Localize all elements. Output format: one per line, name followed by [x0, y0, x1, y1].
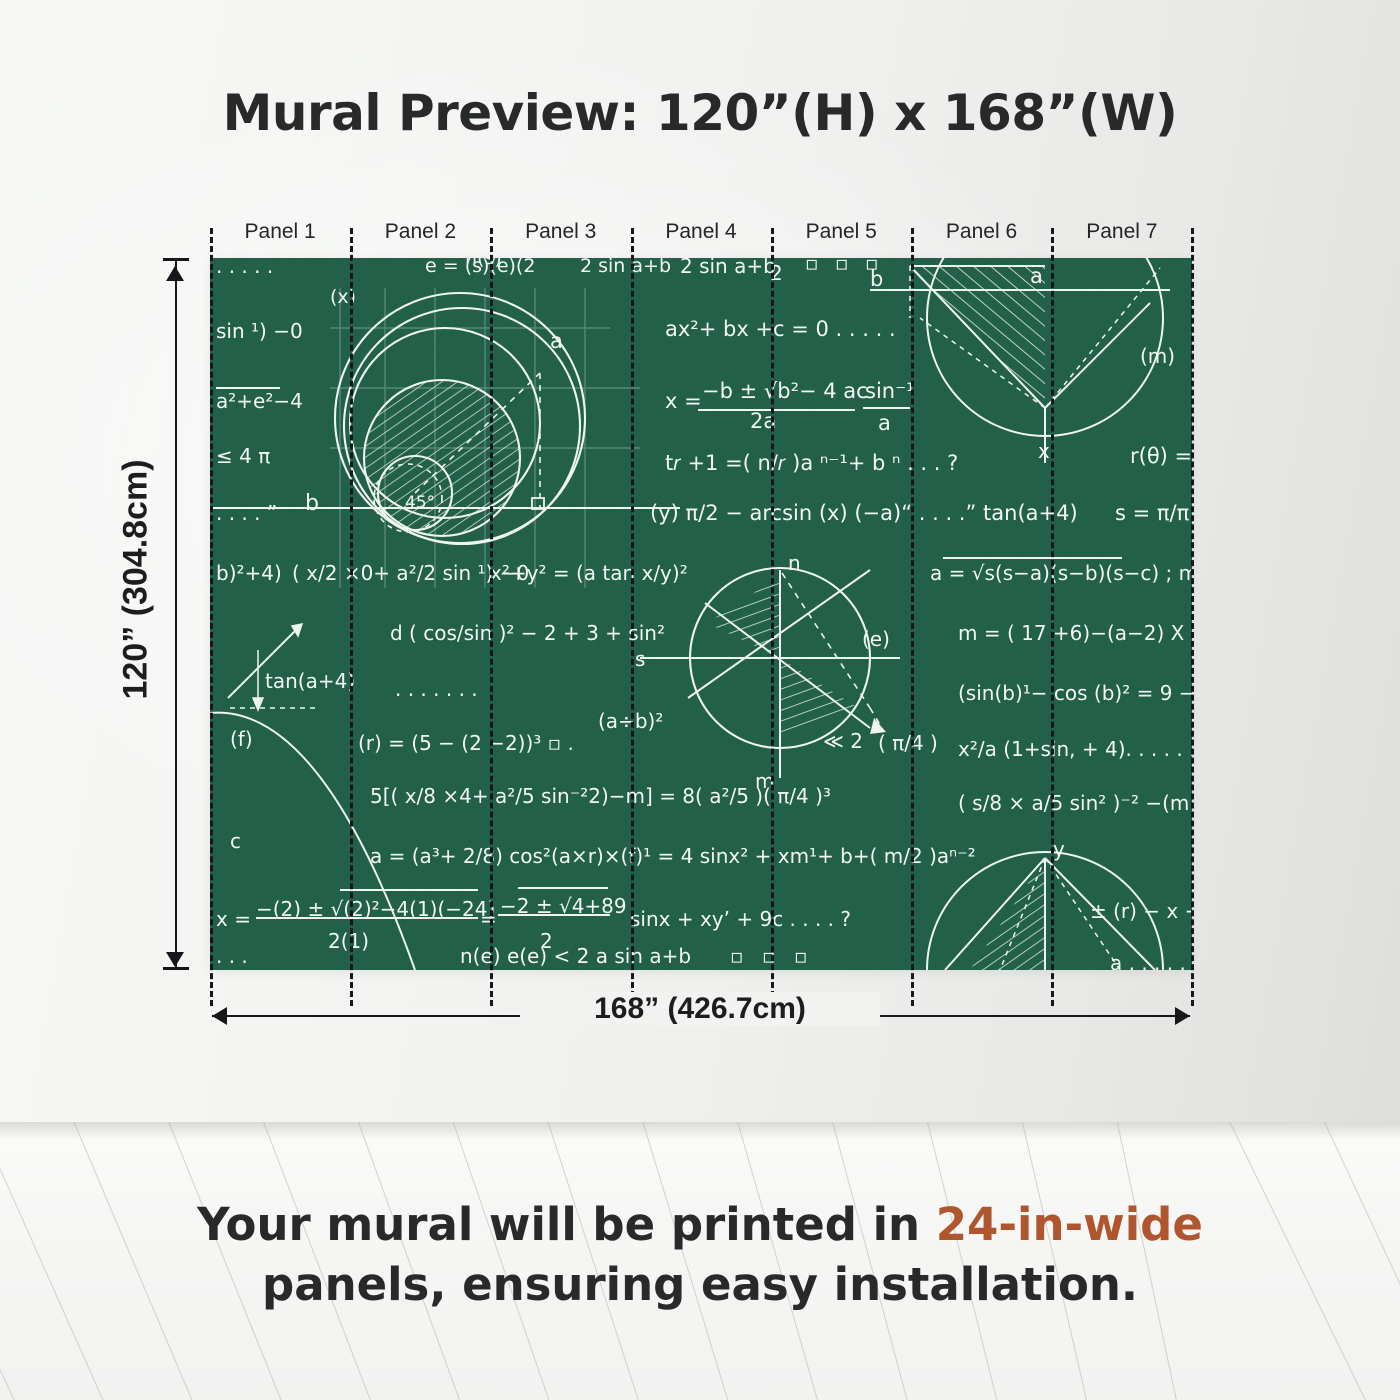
- panel-label-3: Panel 3: [491, 215, 631, 249]
- panel-divider-2: [490, 228, 493, 1006]
- caption-accent-panel-width: 24-in-wide: [936, 1198, 1203, 1251]
- svg-text:t𝑟 +1 =( n/𝑟 )a ⁿ⁻¹+ b ⁿ . .: t𝑟 +1 =( n/𝑟 )a ⁿ⁻¹+ b ⁿ . . . ?: [665, 451, 958, 475]
- page-title: Mural Preview: 120”(H) x 168”(W): [0, 84, 1400, 142]
- panel-label-5: Panel 5: [771, 215, 911, 249]
- svg-text:sin⁻¹: sin⁻¹: [865, 379, 915, 403]
- panel-divider-4: [771, 228, 774, 1006]
- svg-text:▫: ▫: [794, 944, 808, 968]
- svg-text:b)²+4): b)²+4): [216, 561, 282, 585]
- caption-block: Your mural will be printed in 24-in-wide…: [0, 1195, 1400, 1315]
- svg-text:x =: x =: [665, 389, 702, 413]
- floor-wall-shadow: [0, 1122, 1400, 1140]
- svg-text:2(1): 2(1): [328, 929, 369, 953]
- svg-text:▫: ▫: [805, 258, 819, 275]
- svg-text:x²/a (1+sin, + 4). . . . . .: x²/a (1+sin, + 4). . . . . .: [958, 737, 1192, 761]
- caption-line-2: panels, ensuring easy installation.: [0, 1255, 1400, 1315]
- svg-text:(r) = (5 − (2 −2))³ ▫ .: (r) = (5 − (2 −2))³ ▫ .: [358, 731, 574, 755]
- svg-text:tan(a+4): tan(a+4): [265, 669, 355, 693]
- caption-line-1: Your mural will be printed in 24-in-wide: [0, 1195, 1400, 1255]
- svg-text:▫: ▫: [730, 944, 744, 968]
- height-dim-arrow-down: [166, 952, 184, 967]
- svg-text:. . . . . . .: . . . . . . .: [395, 677, 478, 701]
- height-dim-cap-top: [163, 258, 189, 261]
- svg-text:(e): (e): [862, 627, 890, 651]
- height-dim-arrow-up: [166, 266, 184, 281]
- svg-text:≪ 2: ≪ 2: [823, 729, 863, 753]
- mural-preview-chalkboard: 45° a (x) b . . . . . sin ¹) −0 a²+e²−4 …: [210, 258, 1192, 970]
- panel-divider-0: [210, 228, 213, 1006]
- svg-text:a: a: [550, 329, 563, 353]
- panel-divider-7: [1191, 228, 1194, 1006]
- svg-text:s = π/π: s = π/π: [1115, 501, 1190, 525]
- svg-text:n(e) e(e) < 2 a sin a+b: n(e) e(e) < 2 a sin a+b: [460, 944, 691, 968]
- svg-text:. . .: . . .: [216, 944, 248, 968]
- panel-divider-5: [911, 228, 914, 1006]
- svg-text:r(θ) = (: r(θ) = (: [1130, 444, 1192, 468]
- panel-label-4: Panel 4: [631, 215, 771, 249]
- svg-text:n: n: [788, 551, 801, 575]
- caption-line-1-prefix: Your mural will be printed in: [197, 1198, 936, 1251]
- height-dim-cap-bottom: [163, 967, 189, 970]
- width-dimension-label: 168” (426.7cm): [520, 992, 880, 1026]
- svg-text:45°: 45°: [405, 493, 435, 513]
- svg-text:. . . . .: . . . . .: [216, 258, 273, 278]
- svg-text:=: =: [480, 907, 497, 931]
- height-dimension-line: [175, 258, 177, 970]
- svg-text:x: x: [1038, 439, 1050, 463]
- svg-text:s: s: [635, 647, 645, 671]
- svg-text:a²+e²−4: a²+e²−4: [216, 389, 303, 413]
- svg-text:sinx + xy’ + 9c . . . . ?: sinx + xy’ + 9c . . . . ?: [630, 907, 851, 931]
- svg-text:a . . . . .: a . . . . .: [1110, 951, 1186, 970]
- svg-text:( π/4 ): ( π/4 ): [878, 731, 938, 755]
- svg-text:▫: ▫: [865, 258, 879, 275]
- svg-text:(f): (f): [230, 727, 253, 751]
- chalkboard-math-artwork: 45° a (x) b . . . . . sin ¹) −0 a²+e²−4 …: [210, 258, 1192, 970]
- svg-text:a: a: [878, 411, 891, 435]
- panel-divider-3: [631, 228, 634, 1006]
- width-dim-arrow-left: [212, 1007, 227, 1025]
- svg-text:a = (a³+ 2/8) cos²(a×r)×(f)¹ =: a = (a³+ 2/8) cos²(a×r)×(f)¹ = 4 sinx² +…: [370, 844, 976, 868]
- panel-label-row: Panel 1 Panel 2 Panel 3 Panel 4 Panel 5 …: [210, 215, 1192, 249]
- panel-label-7: Panel 7: [1052, 215, 1192, 249]
- panel-divider-6: [1051, 228, 1054, 1006]
- panel-divider-1: [350, 228, 353, 1006]
- svg-text:x²+y² = (a tan x/y)²: x²+y² = (a tan x/y)²: [490, 561, 688, 585]
- svg-text:2 sin a+b: 2 sin a+b: [680, 258, 776, 278]
- svg-text:. . . . ”: . . . . ”: [216, 501, 277, 525]
- svg-text:2 sin a+b: 2 sin a+b: [580, 258, 671, 277]
- svg-text:c: c: [230, 829, 241, 853]
- svg-text:−b ± √b²− 4 ac: −b ± √b²− 4 ac: [702, 379, 868, 403]
- svg-text:m = ( 17 +6)−(a−2) X = (5: m = ( 17 +6)−(a−2) X = (5: [958, 621, 1192, 645]
- svg-text:≤ 4 π: ≤ 4 π: [216, 444, 270, 468]
- svg-text:(sin(b)¹− cos (b)² = 9 − sin: (sin(b)¹− cos (b)² = 9 − sin: [958, 681, 1192, 705]
- width-dim-arrow-right: [1175, 1007, 1190, 1025]
- svg-text:y: y: [1053, 837, 1065, 861]
- panel-label-6: Panel 6: [911, 215, 1051, 249]
- height-dimension-label: 120” (304.8cm): [117, 430, 156, 730]
- svg-text:sin ¹) −0: sin ¹) −0: [216, 319, 303, 343]
- svg-text:a: a: [1030, 264, 1043, 288]
- svg-text:ax²+ bx +c = 0 . . . . .: ax²+ bx +c = 0 . . . . .: [665, 317, 896, 341]
- svg-text:(m): (m): [1140, 344, 1175, 368]
- svg-text:▫: ▫: [835, 258, 849, 275]
- svg-text:x =: x =: [216, 907, 251, 931]
- svg-text:( s/8 × a/5 sin² )⁻² −(m)= 8(: ( s/8 × a/5 sin² )⁻² −(m)= 8( a/5 )+: [958, 791, 1192, 815]
- svg-text:(y) π/2 − arcsin (x) (−a)“ .: (y) π/2 − arcsin (x) (−a)“ . . . .” tan(…: [650, 501, 1078, 525]
- svg-text:d ( cos/sin )² − 2 + 3 + sin²: d ( cos/sin )² − 2 + 3 + sin²: [390, 621, 665, 645]
- panel-label-2: Panel 2: [350, 215, 490, 249]
- svg-text:n(s): n(s): [465, 258, 502, 269]
- panel-label-1: Panel 1: [210, 215, 350, 249]
- svg-text:b: b: [305, 491, 319, 516]
- svg-text:a = √s(s−a)(s−b)(s−c) ; m (1+: a = √s(s−a)(s−b)(s−c) ; m (1+: [930, 561, 1192, 585]
